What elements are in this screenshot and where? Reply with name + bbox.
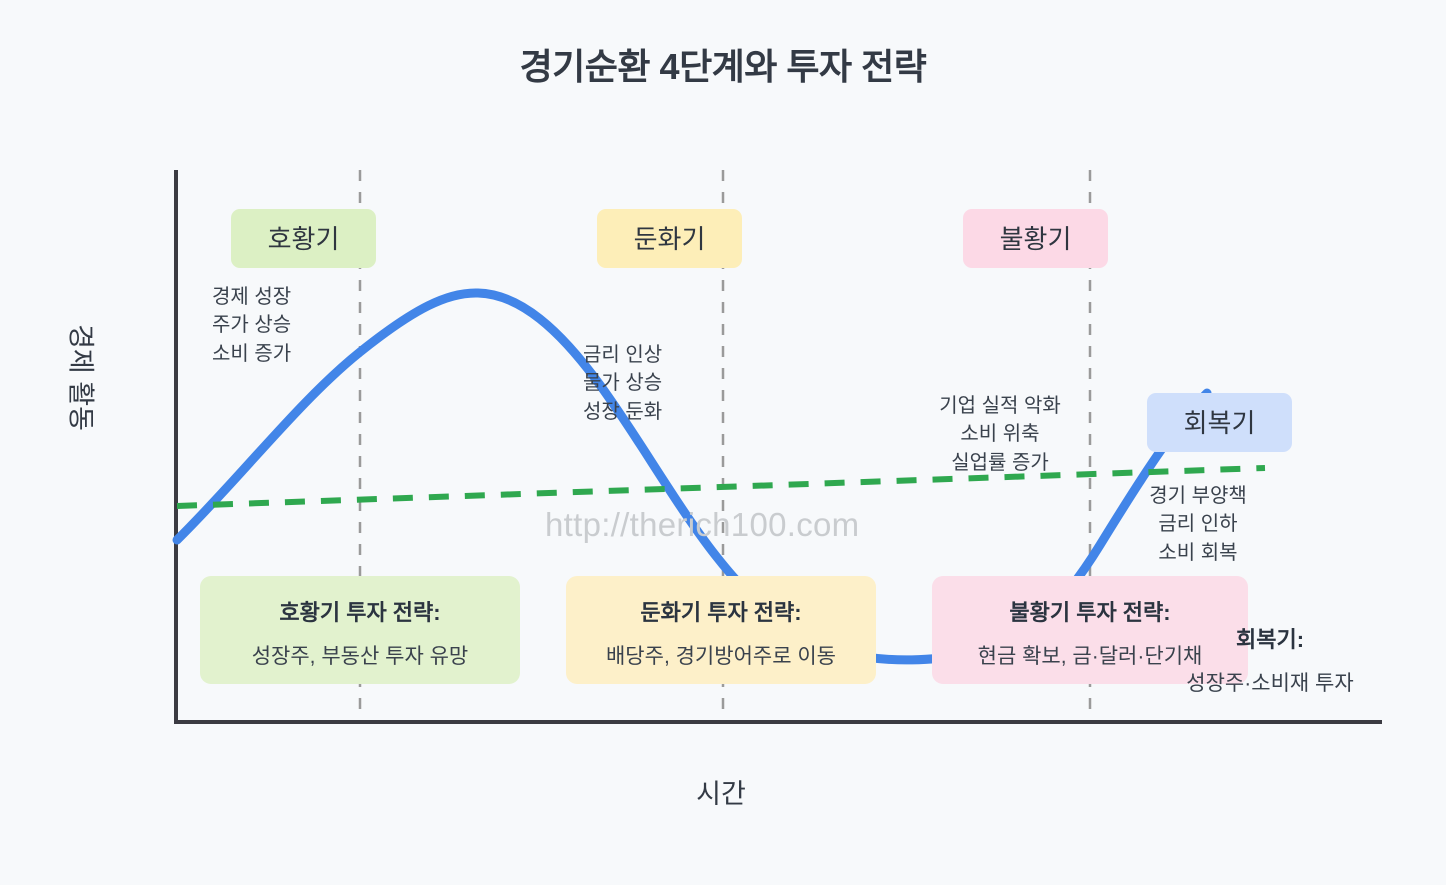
strategy-body-boom: 성장주, 부동산 투자 유망: [200, 640, 520, 670]
x-axis-label: 시간: [176, 772, 1266, 811]
strategy-body-recovery: 성장주·소비재 투자: [1160, 667, 1380, 697]
phase-pill-recession[interactable]: 불황기: [963, 209, 1108, 268]
strategy-box-slowdown[interactable]: 둔화기 투자 전략: 배당주, 경기방어주로 이동: [566, 576, 876, 684]
phase-pill-boom[interactable]: 호황기: [231, 209, 376, 268]
y-axis-label: 경제 활동: [64, 323, 103, 433]
phase-notes-slowdown: 금리 인상 물가 상승 성장 둔화: [583, 341, 662, 426]
strategy-title-boom: 호황기 투자 전략:: [200, 595, 520, 627]
long-term-trend-line: [177, 468, 1265, 506]
y-axis-line: [174, 170, 178, 724]
strategy-box-boom[interactable]: 호황기 투자 전략: 성장주, 부동산 투자 유망: [200, 576, 520, 684]
phase-pill-recovery[interactable]: 회복기: [1147, 393, 1292, 452]
phase-notes-recession: 기업 실적 악화 소비 위축 실업률 증가: [925, 392, 1075, 477]
site-watermark: http://therich100.com: [545, 506, 859, 544]
strategy-title-slowdown: 둔화기 투자 전략:: [566, 595, 876, 627]
phase-notes-recovery: 경기 부양책 금리 인하 소비 회복: [1128, 482, 1268, 567]
phase-pill-slowdown[interactable]: 둔화기: [597, 209, 742, 268]
phase-notes-boom: 경제 성장 주가 상승 소비 증가: [212, 283, 291, 368]
page-title: 경기순환 4단계와 투자 전략: [0, 38, 1446, 90]
strategy-title-recovery: 회복기:: [1160, 622, 1380, 654]
strategy-body-slowdown: 배당주, 경기방어주로 이동: [566, 640, 876, 670]
x-axis-line: [174, 720, 1382, 724]
strategy-box-recovery[interactable]: 회복기: 성장주·소비재 투자: [1160, 622, 1380, 697]
chart-canvas: 경기순환 4단계와 투자 전략 시간 경제 활동 http://therich1…: [0, 0, 1446, 885]
